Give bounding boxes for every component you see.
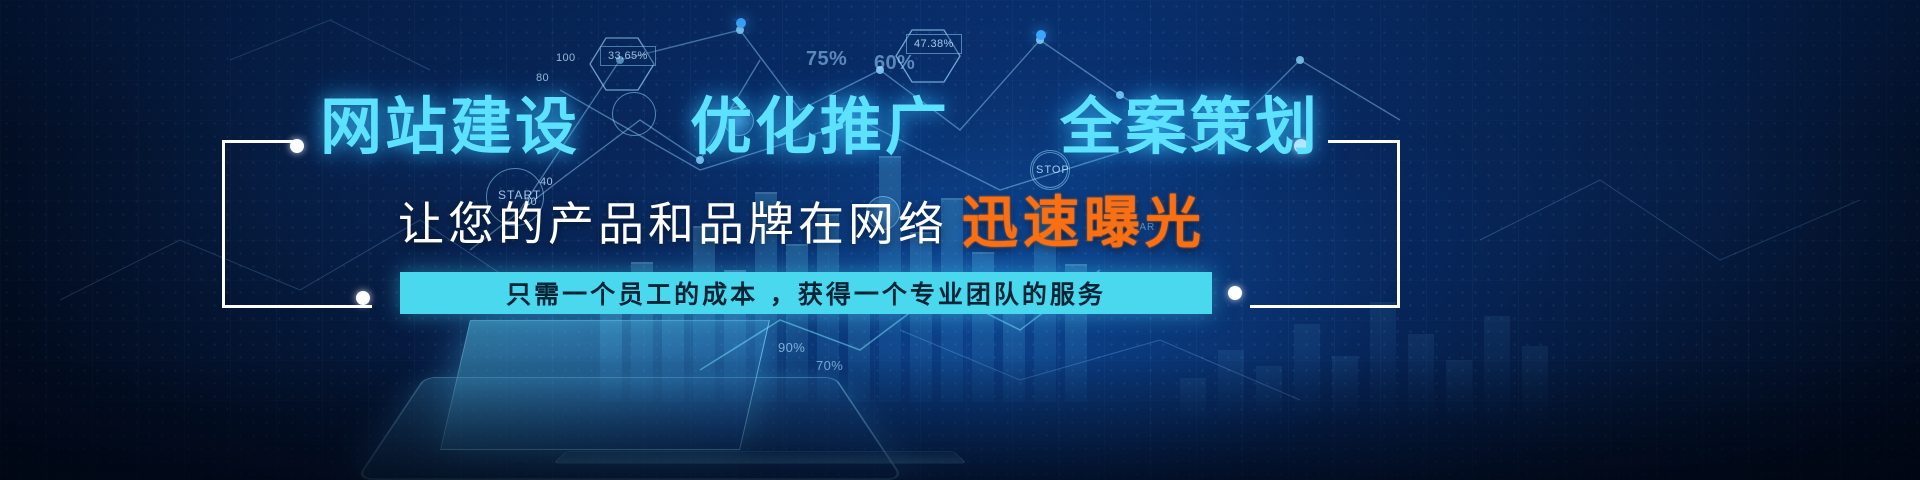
subline-orange-text: 迅速曝光 xyxy=(962,196,1206,252)
tagline-text: 只需一个员工的成本 ，获得一个专业团队的服务 xyxy=(506,275,1106,311)
headline: 网站建设 优化推广 全案策划 xyxy=(320,96,1320,158)
banner-content: 网站建设 优化推广 全案策划 让您的产品和品牌在网络 迅速曝光 只需一个员工的成… xyxy=(0,0,1920,480)
headline-part-1: 网站建设 xyxy=(320,96,580,158)
headline-part-3: 全案策划 xyxy=(1060,96,1320,158)
headline-part-2: 优化推广 xyxy=(690,96,950,158)
tagline-bar: 只需一个员工的成本 ，获得一个专业团队的服务 xyxy=(400,272,1212,314)
marketing-banner: 33.65% 47.38% 75% 60% 90% 70% 100 80 20 … xyxy=(0,0,1920,480)
subline-white-text: 让您的产品和品牌在网络 xyxy=(398,201,948,247)
subline: 让您的产品和品牌在网络 迅速曝光 xyxy=(398,196,1228,252)
